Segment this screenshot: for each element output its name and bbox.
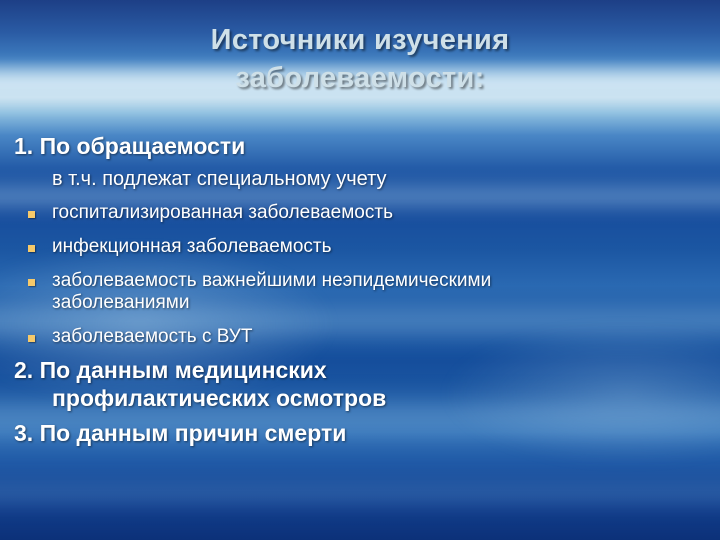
list-item-bullet-3-label: заболеваемость важнейшими неэпидемически… (52, 270, 491, 291)
spacer (0, 191, 720, 202)
list-item-bullet-2-label: инфекционная заболеваемость (52, 236, 332, 257)
square-bullet-icon (28, 279, 35, 286)
square-bullet-icon (28, 211, 35, 218)
list-item-bullet-4: заболеваемость с ВУТ (0, 326, 720, 349)
slide-title: Источники изучения заболеваемости: (40, 22, 680, 97)
list-item-bullet-4-label: заболеваемость с ВУТ (52, 326, 252, 347)
spacer (0, 225, 720, 236)
list-item-bullet-1-label: госпитализированная заболеваемость (52, 202, 393, 223)
slide: Источники изучения заболеваемости: 1. По… (0, 0, 720, 540)
list-item-bullet-3-continuation: заболеваниями (0, 292, 720, 315)
list-item-bullet-3: заболеваемость важнейшими неэпидемически… (0, 270, 720, 293)
slide-title-line-2: заболеваемости: (40, 60, 680, 98)
list-item-bullet-1: госпитализированная заболеваемость (0, 202, 720, 225)
square-bullet-icon (28, 335, 35, 342)
spacer (0, 349, 720, 356)
square-bullet-icon (28, 245, 35, 252)
list-item-numbered-1: 1. По обращаемости (0, 132, 720, 160)
list-item-numbered-2-continuation: профилактических осмотров (0, 384, 720, 412)
list-item-sub-1: в т.ч. подлежат специальному учету (0, 167, 720, 191)
spacer (0, 315, 720, 326)
slide-body: 1. По обращаемости в т.ч. подлежат специ… (0, 132, 720, 447)
list-item-bullet-2: инфекционная заболеваемость (0, 236, 720, 259)
spacer (0, 412, 720, 419)
spacer (0, 160, 720, 167)
list-item-numbered-2: 2. По данным медицинских (0, 356, 720, 384)
slide-title-line-1: Источники изучения (40, 22, 680, 60)
list-item-numbered-3: 3. По данным причин смерти (0, 419, 720, 447)
spacer (0, 259, 720, 270)
